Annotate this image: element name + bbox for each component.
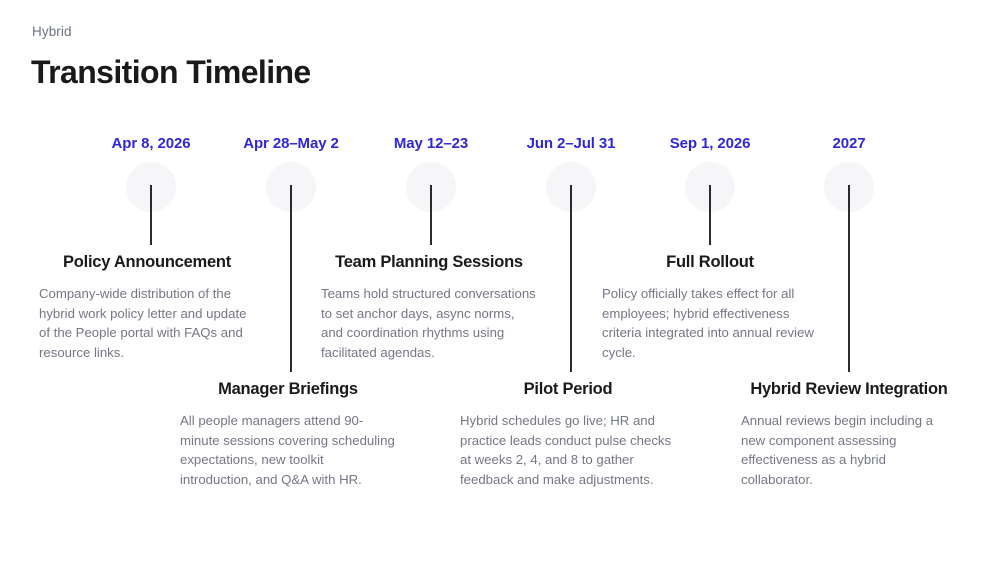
timeline-track: Apr 8, 2026 Policy Announcement Company-…	[0, 0, 1000, 561]
milestone-description: Hybrid schedules go live; HR and practic…	[460, 411, 676, 489]
milestone-connector-line	[150, 185, 152, 245]
milestone-content: Full Rollout Policy officially takes eff…	[602, 251, 818, 362]
milestone-date: Apr 28–May 2	[243, 134, 339, 154]
milestone-description: Annual reviews begin including a new com…	[741, 411, 957, 489]
milestone-description: Teams hold structured conversations to s…	[321, 284, 537, 362]
milestone-date: Jun 2–Jul 31	[527, 134, 616, 154]
milestone-description: All people managers attend 90-minute ses…	[180, 411, 396, 489]
milestone-date: 2027	[833, 134, 866, 154]
milestone-content: Hybrid Review Integration Annual reviews…	[741, 378, 957, 489]
milestone-title: Hybrid Review Integration	[741, 378, 957, 400]
milestone-connector-line	[290, 185, 292, 372]
milestone-description: Policy officially takes effect for all e…	[602, 284, 818, 362]
milestone-connector-line	[570, 185, 572, 372]
milestone-title: Manager Briefings	[180, 378, 396, 400]
milestone-content: Policy Announcement Company-wide distrib…	[39, 251, 255, 362]
milestone-connector-line	[848, 185, 850, 372]
milestone-description: Company-wide distribution of the hybrid …	[39, 284, 255, 362]
milestone-content: Team Planning Sessions Teams hold struct…	[321, 251, 537, 362]
timeline-canvas: Hybrid Transition Timeline Apr 8, 2026 P…	[0, 0, 1000, 561]
milestone-content: Manager Briefings All people managers at…	[180, 378, 396, 489]
milestone-title: Pilot Period	[460, 378, 676, 400]
milestone-title: Full Rollout	[602, 251, 818, 273]
milestone-date: May 12–23	[394, 134, 468, 154]
milestone-title: Policy Announcement	[39, 251, 255, 273]
milestone-title: Team Planning Sessions	[321, 251, 537, 273]
milestone-content: Pilot Period Hybrid schedules go live; H…	[460, 378, 676, 489]
milestone-connector-line	[709, 185, 711, 245]
milestone-connector-line	[430, 185, 432, 245]
milestone-date: Sep 1, 2026	[670, 134, 751, 154]
milestone-date: Apr 8, 2026	[112, 134, 191, 154]
